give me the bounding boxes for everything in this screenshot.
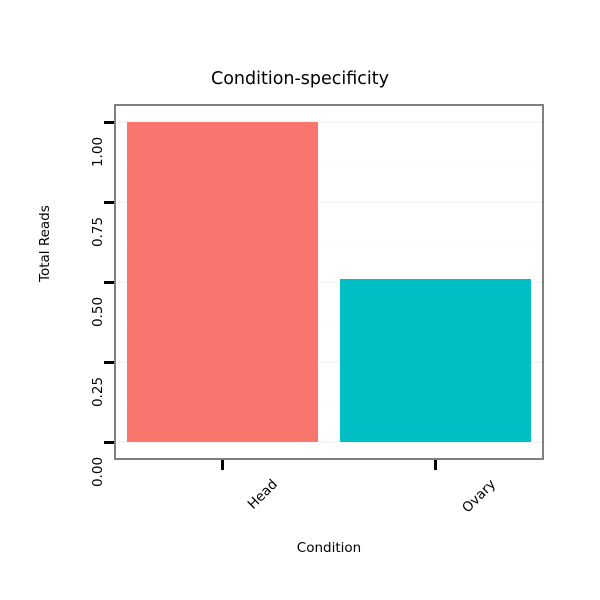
y-tick-label-0.75: 0.75 bbox=[91, 202, 105, 262]
x-axis-title: Condition bbox=[114, 540, 544, 556]
chart-container: Condition-specificity 1.000.750.500.250.… bbox=[0, 0, 600, 600]
y-tick-mark-0.00 bbox=[104, 441, 114, 444]
plot-panel bbox=[114, 104, 544, 460]
y-tick-mark-0.25 bbox=[104, 361, 114, 364]
y-tick-mark-0.50 bbox=[104, 281, 114, 284]
chart-title: Condition-specificity bbox=[0, 68, 600, 90]
plot-panel-inner bbox=[116, 106, 542, 458]
y-tick-label-1.00: 1.00 bbox=[91, 122, 105, 182]
y-axis-title: Total Reads bbox=[38, 205, 52, 282]
y-tick-mark-1.00 bbox=[104, 121, 114, 124]
bar-head[interactable] bbox=[127, 122, 319, 442]
x-tick-mark-head bbox=[221, 460, 224, 470]
x-tick-label-ovary: Ovary bbox=[459, 477, 498, 516]
x-tick-mark-ovary bbox=[434, 460, 437, 470]
y-tick-label-0.25: 0.25 bbox=[91, 362, 105, 422]
y-tick-label-0.00: 0.00 bbox=[91, 442, 105, 502]
y-tick-label-0.50: 0.50 bbox=[91, 282, 105, 342]
x-tick-label-head: Head bbox=[245, 477, 281, 513]
bar-ovary[interactable] bbox=[340, 279, 532, 442]
y-tick-mark-0.75 bbox=[104, 201, 114, 204]
